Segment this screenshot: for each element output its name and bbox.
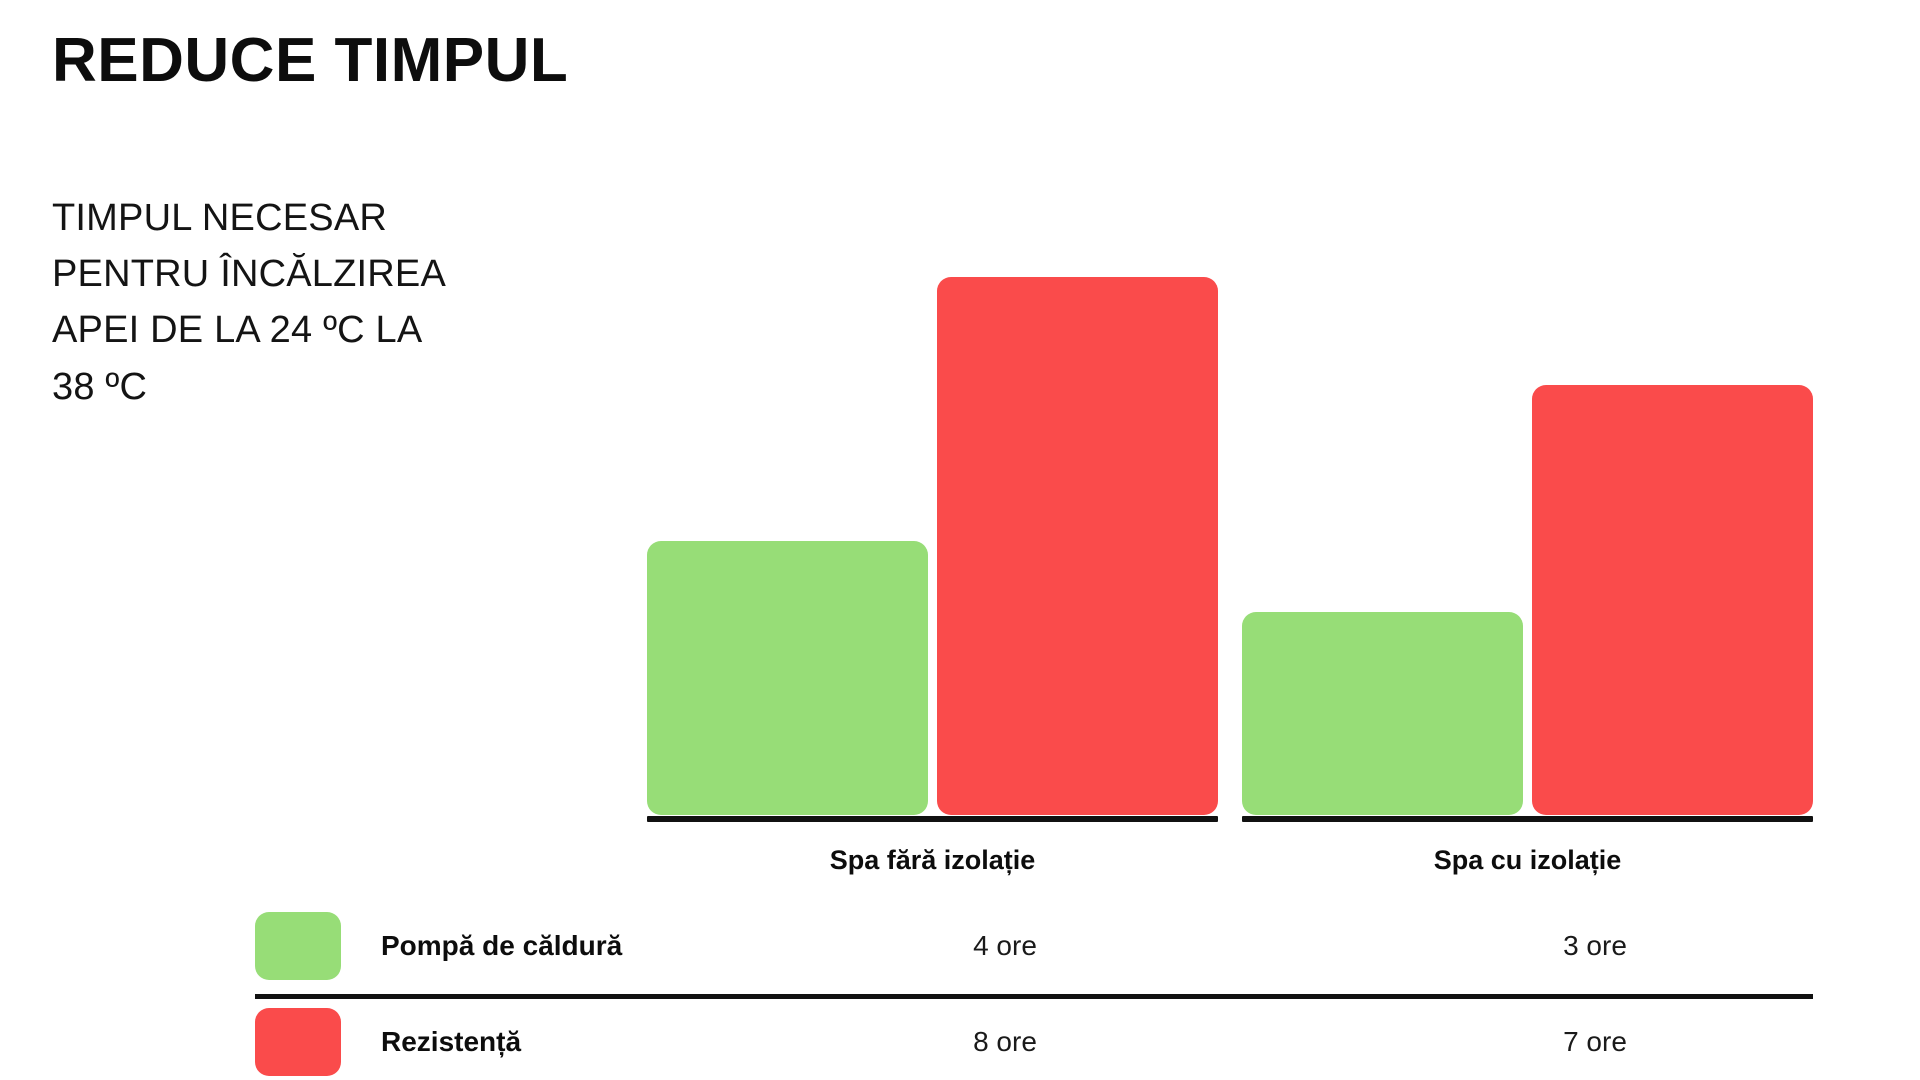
axis-baseline-group-1 <box>1242 816 1813 822</box>
value-cell-rezistenta-spa-cu-izolatie: 7 ore <box>1435 994 1755 1080</box>
value-cell-pompa-spa-fara-izolatie: 4 ore <box>845 898 1165 994</box>
category-label-spa-cu-izolatie: Spa cu izolație <box>1242 845 1813 876</box>
bar-spa-fara-izolatie-rezistenta[interactable] <box>937 277 1218 815</box>
legend-value-table: Pompă de căldură 4 ore 3 ore Rezistență … <box>255 898 1815 1080</box>
category-label-spa-fara-izolatie: Spa fără izolație <box>647 845 1218 876</box>
bar-spa-fara-izolatie-pompa-de-caldura[interactable] <box>647 541 928 815</box>
subtitle-line-1: TIMPUL NECESAR <box>52 190 446 246</box>
page-title: REDUCE TIMPUL <box>52 28 568 93</box>
chart-subtitle: TIMPUL NECESAR PENTRU ÎNCĂLZIREA APEI DE… <box>52 190 446 415</box>
legend-swatch-red-icon <box>255 1008 341 1076</box>
value-cell-rezistenta-spa-fara-izolatie: 8 ore <box>845 994 1165 1080</box>
legend-label-pompa-de-caldura: Pompă de căldură <box>381 898 622 994</box>
subtitle-line-2: PENTRU ÎNCĂLZIREA <box>52 246 446 302</box>
title-block: REDUCE TIMPUL <box>52 28 568 93</box>
value-cell-pompa-spa-cu-izolatie: 3 ore <box>1435 898 1755 994</box>
legend-row-pompa-de-caldura[interactable]: Pompă de căldură 4 ore 3 ore <box>255 898 1815 994</box>
subtitle-line-4: 38 ºC <box>52 359 446 415</box>
legend-swatch-green-icon <box>255 912 341 980</box>
subtitle-line-3: APEI DE LA 24 ºC LA <box>52 302 446 358</box>
bar-spa-cu-izolatie-pompa-de-caldura[interactable] <box>1242 612 1523 815</box>
legend-row-rezistenta[interactable]: Rezistență 8 ore 7 ore <box>255 994 1815 1080</box>
axis-baseline-group-0 <box>647 816 1218 822</box>
legend-label-rezistenta: Rezistență <box>381 994 521 1080</box>
bar-spa-cu-izolatie-rezistenta[interactable] <box>1532 385 1813 815</box>
